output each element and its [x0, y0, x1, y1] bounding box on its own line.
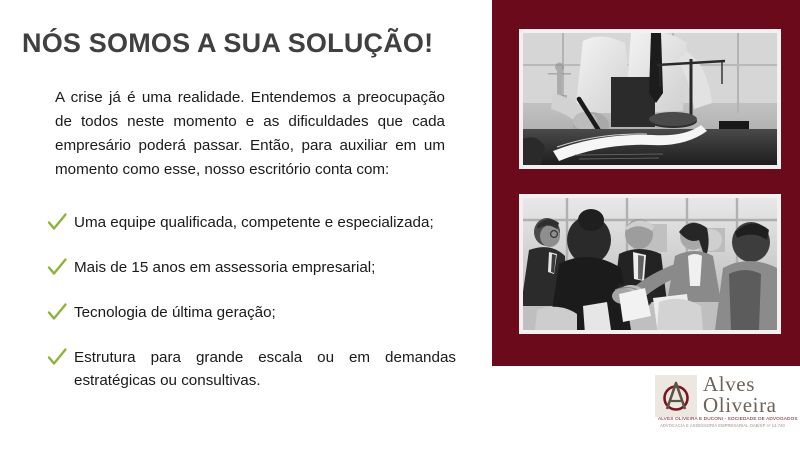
check-icon — [46, 301, 68, 323]
alves-oliveira-monogram-icon — [655, 375, 697, 417]
company-logo: Alves Oliveira ALVES OLIVEIRA E DUCONI -… — [655, 375, 787, 437]
list-item-label: Estrutura para grande escala ou em deman… — [74, 346, 456, 392]
logo-word-alves: Alves — [703, 374, 777, 395]
list-item: Tecnologia de última geração; — [46, 301, 456, 324]
list-item-label: Uma equipe qualificada, competente e esp… — [74, 211, 456, 234]
content-column: NÓS SOMOS A SUA SOLUÇÃO! A crise já é um… — [0, 0, 492, 450]
page-title: NÓS SOMOS A SUA SOLUÇÃO! — [22, 28, 482, 59]
logo-subtitle-registration: ADVOCACIA E ASSESSORIA EMPRESARIAL OAB/S… — [660, 423, 789, 428]
intro-paragraph: A crise já é uma realidade. Entendemos a… — [55, 86, 445, 182]
check-icon — [46, 211, 68, 233]
photo-frame-bottom — [519, 194, 781, 334]
logo-wordmark: Alves Oliveira — [703, 374, 777, 416]
photo-lawyer-signing-document — [523, 33, 777, 165]
logo-subtitle-firm: ALVES OLIVEIRA E DUCONI - SOCIEDADE DE A… — [658, 416, 791, 421]
photo-business-meeting-handshake — [523, 198, 777, 330]
list-item-label: Mais de 15 anos em assessoria empresaria… — [74, 256, 456, 279]
logo-word-oliveira: Oliveira — [703, 395, 777, 416]
photo-frame-top — [519, 29, 781, 169]
slide-canvas: NÓS SOMOS A SUA SOLUÇÃO! A crise já é um… — [0, 0, 800, 450]
check-icon — [46, 346, 68, 368]
list-item-label: Tecnologia de última geração; — [74, 301, 456, 324]
list-item: Mais de 15 anos em assessoria empresaria… — [46, 256, 456, 279]
benefits-list: Uma equipe qualificada, competente e esp… — [46, 211, 456, 392]
list-item: Uma equipe qualificada, competente e esp… — [46, 211, 456, 234]
check-icon — [46, 256, 68, 278]
list-item: Estrutura para grande escala ou em deman… — [46, 346, 456, 392]
